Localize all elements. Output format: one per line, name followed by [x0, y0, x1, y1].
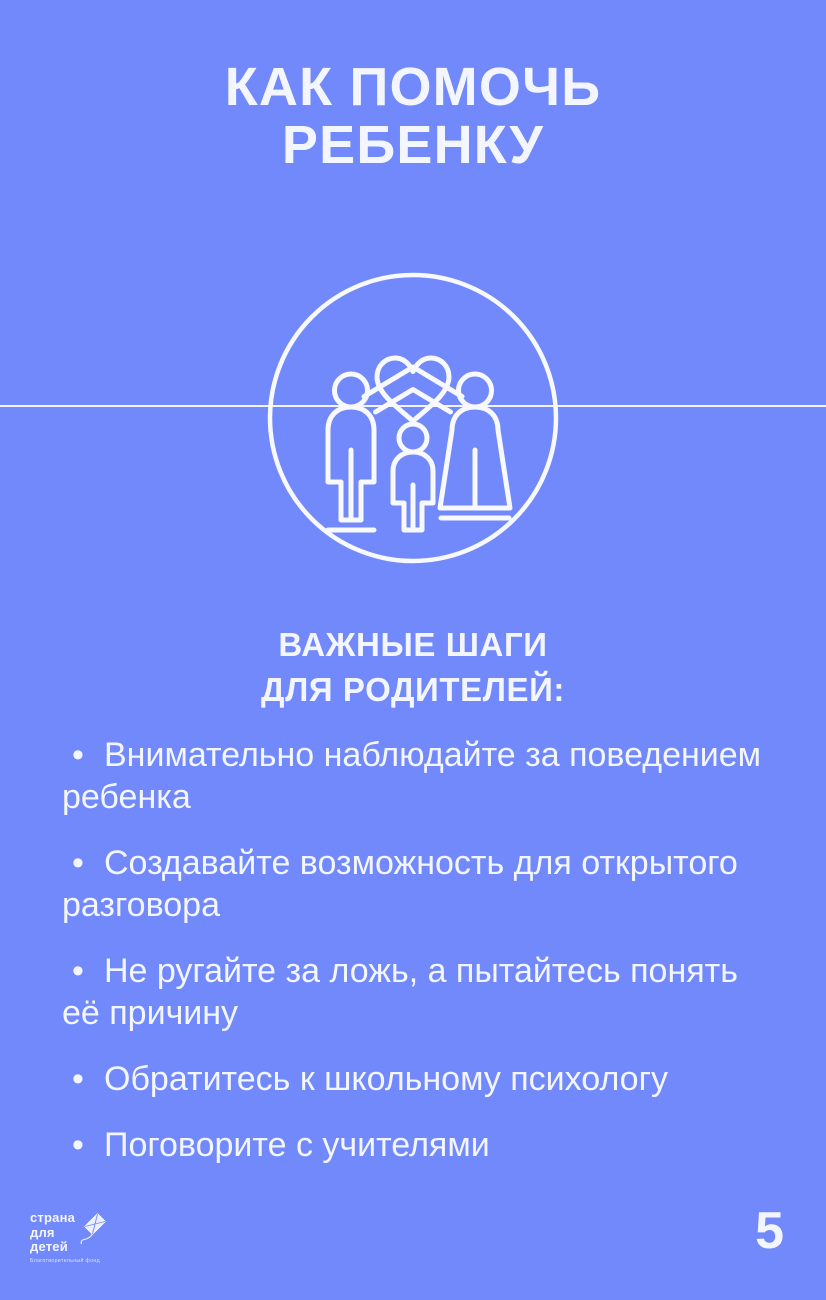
family-heart-icon: [267, 272, 559, 564]
steps-list: •Внимательно наблюдайте за поведением ре…: [62, 734, 782, 1166]
brand-logo-wordmark: страна для детей: [30, 1211, 75, 1255]
page-title-line-1: КАК ПОМОЧЬ: [0, 58, 826, 116]
kite-icon: [80, 1212, 106, 1250]
list-item-text: Внимательно наблюдайте за поведением реб…: [62, 736, 761, 816]
section-subtitle-line-1: ВАЖНЫЕ ШАГИ: [0, 622, 826, 667]
slide-root: КАК ПОМОЧЬ РЕБЕНКУ: [0, 0, 826, 1300]
page-number: 5: [755, 1203, 784, 1259]
brand-logo-word-1: страна: [30, 1211, 75, 1226]
page-title: КАК ПОМОЧЬ РЕБЕНКУ: [0, 58, 826, 174]
brand-logo-main: страна для детей: [30, 1211, 160, 1255]
list-item: •Внимательно наблюдайте за поведением ре…: [62, 734, 782, 818]
list-item-text: Создавайте возможность для открытого раз…: [62, 844, 738, 924]
list-item-text: Не ругайте за ложь, а пытайтесь понять е…: [62, 952, 738, 1032]
bullet-icon: •: [62, 842, 104, 884]
list-item-text: Поговорите с учителями: [104, 1126, 490, 1164]
section-subtitle-line-2: ДЛЯ РОДИТЕЛЕЙ:: [0, 667, 826, 712]
list-item: •Обратитесь к школьному психологу: [62, 1058, 782, 1100]
brand-logo: страна для детей Благотворительный фонд: [30, 1211, 160, 1273]
brand-logo-tagline: Благотворительный фонд: [30, 1258, 160, 1265]
section-subtitle: ВАЖНЫЕ ШАГИ ДЛЯ РОДИТЕЛЕЙ:: [0, 622, 826, 712]
list-item: •Не ругайте за ложь, а пытайтесь понять …: [62, 950, 782, 1034]
bullet-icon: •: [62, 1058, 104, 1100]
brand-logo-word-3: детей: [30, 1240, 75, 1255]
brand-logo-word-2: для: [30, 1226, 75, 1241]
page-title-line-2: РЕБЕНКУ: [0, 116, 826, 174]
list-item: •Создавайте возможность для открытого ра…: [62, 842, 782, 926]
bullet-icon: •: [62, 950, 104, 992]
bullet-icon: •: [62, 1124, 104, 1166]
list-item-text: Обратитесь к школьному психологу: [104, 1060, 668, 1098]
bullet-icon: •: [62, 734, 104, 776]
list-item: •Поговорите с учителями: [62, 1124, 782, 1166]
